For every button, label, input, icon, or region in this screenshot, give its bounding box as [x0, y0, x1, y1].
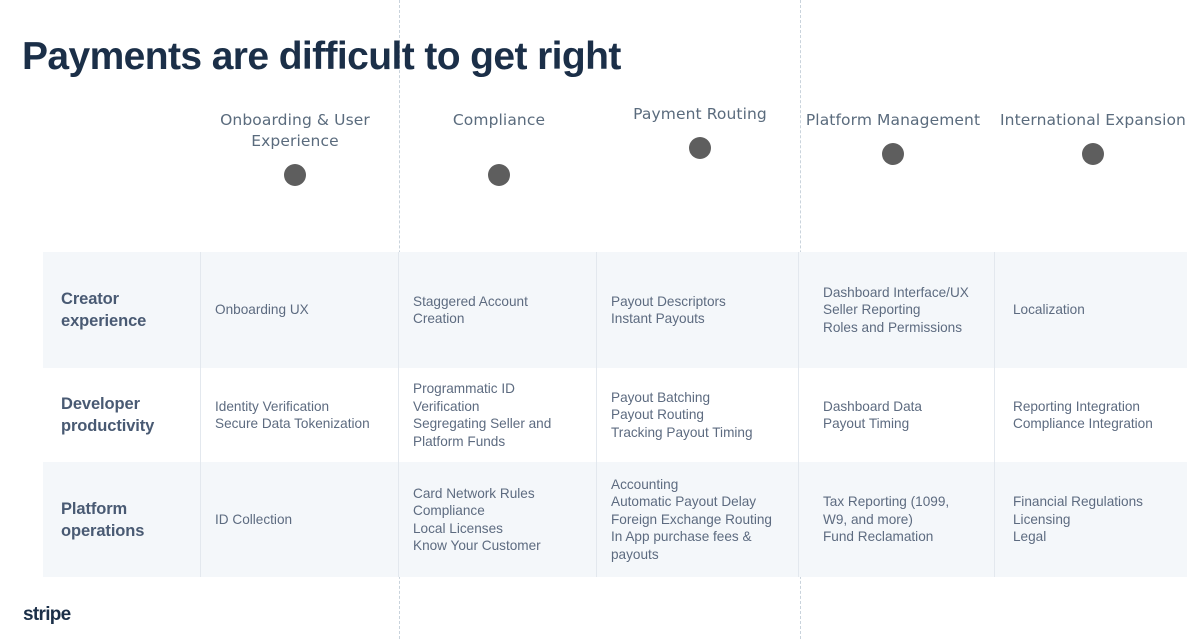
timeline-stage-label: International Expansion [983, 110, 1200, 131]
timeline-stage-label: Onboarding & User Experience [185, 110, 405, 152]
cell-text: Accounting Automatic Payout Delay Foreig… [611, 476, 772, 564]
cell-developer-onboarding: Identity Verification Secure Data Tokeni… [200, 368, 398, 462]
timeline: Onboarding & User Experience Compliance … [0, 110, 1200, 230]
cell-text: Reporting Integration Compliance Integra… [1013, 398, 1153, 433]
cell-text: Localization [1013, 301, 1085, 319]
cell-text: Dashboard Data Payout Timing [823, 398, 922, 433]
cell-text: ID Collection [215, 511, 292, 529]
cell-text: Programmatic ID Verification Segregating… [413, 380, 551, 450]
cell-text: Identity Verification Secure Data Tokeni… [215, 398, 370, 433]
cell-creator-platform-management: Dashboard Interface/UX Seller Reporting … [798, 252, 994, 368]
timeline-dot-icon[interactable] [284, 164, 306, 186]
cell-text: Payout Batching Payout Routing Tracking … [611, 389, 753, 442]
row-title: Creator experience [61, 288, 146, 332]
timeline-stage-compliance[interactable]: Compliance [389, 110, 609, 186]
cell-operations-payment-routing: Accounting Automatic Payout Delay Foreig… [596, 462, 798, 577]
timeline-dot-icon[interactable] [882, 143, 904, 165]
cell-creator-international-expansion: Localization [994, 252, 1187, 368]
cell-text: Tax Reporting (1099, W9, and more) Fund … [823, 493, 949, 546]
row-header-platform-operations: Platform operations [43, 462, 200, 577]
cell-creator-onboarding: Onboarding UX [200, 252, 398, 368]
timeline-stage-label: Compliance [389, 110, 609, 131]
timeline-stage-platform-management[interactable]: Platform Management [783, 110, 1003, 165]
cell-text: Payout Descriptors Instant Payouts [611, 293, 726, 328]
cell-creator-payment-routing: Payout Descriptors Instant Payouts [596, 252, 798, 368]
cell-operations-compliance: Card Network Rules Compliance Local Lice… [398, 462, 596, 577]
timeline-stage-international-expansion[interactable]: International Expansion [983, 110, 1200, 165]
stripe-logo: stripe [23, 604, 71, 626]
timeline-dot-icon[interactable] [488, 164, 510, 186]
row-header-creator-experience: Creator experience [43, 252, 200, 368]
cell-text: Dashboard Interface/UX Seller Reporting … [823, 284, 969, 337]
row-header-developer-productivity: Developer productivity [43, 368, 200, 462]
timeline-stage-payment-routing[interactable]: Payment Routing [590, 104, 810, 159]
cell-text: Staggered Account Creation [413, 293, 528, 328]
row-title: Platform operations [61, 498, 144, 542]
cell-text: Financial Regulations Licensing Legal [1013, 493, 1143, 546]
page-title: Payments are difficult to get right [22, 34, 621, 80]
row-title: Developer productivity [61, 393, 154, 437]
cell-developer-international-expansion: Reporting Integration Compliance Integra… [994, 368, 1187, 462]
timeline-stage-label: Payment Routing [590, 104, 810, 125]
capability-matrix: Creator experience Onboarding UX Stagger… [43, 252, 1187, 577]
cell-operations-international-expansion: Financial Regulations Licensing Legal [994, 462, 1187, 577]
cell-developer-platform-management: Dashboard Data Payout Timing [798, 368, 994, 462]
cell-developer-compliance: Programmatic ID Verification Segregating… [398, 368, 596, 462]
cell-text: Card Network Rules Compliance Local Lice… [413, 485, 541, 555]
timeline-dot-icon[interactable] [1082, 143, 1104, 165]
timeline-dot-icon[interactable] [689, 137, 711, 159]
cell-operations-onboarding: ID Collection [200, 462, 398, 577]
cell-operations-platform-management: Tax Reporting (1099, W9, and more) Fund … [798, 462, 994, 577]
table-row: Creator experience Onboarding UX Stagger… [43, 252, 1187, 368]
cell-creator-compliance: Staggered Account Creation [398, 252, 596, 368]
table-row: Developer productivity Identity Verifica… [43, 368, 1187, 462]
timeline-stage-onboarding-user-experience[interactable]: Onboarding & User Experience [185, 110, 405, 186]
table-row: Platform operations ID Collection Card N… [43, 462, 1187, 577]
timeline-stage-label: Platform Management [783, 110, 1003, 131]
cell-developer-payment-routing: Payout Batching Payout Routing Tracking … [596, 368, 798, 462]
cell-text: Onboarding UX [215, 301, 309, 319]
